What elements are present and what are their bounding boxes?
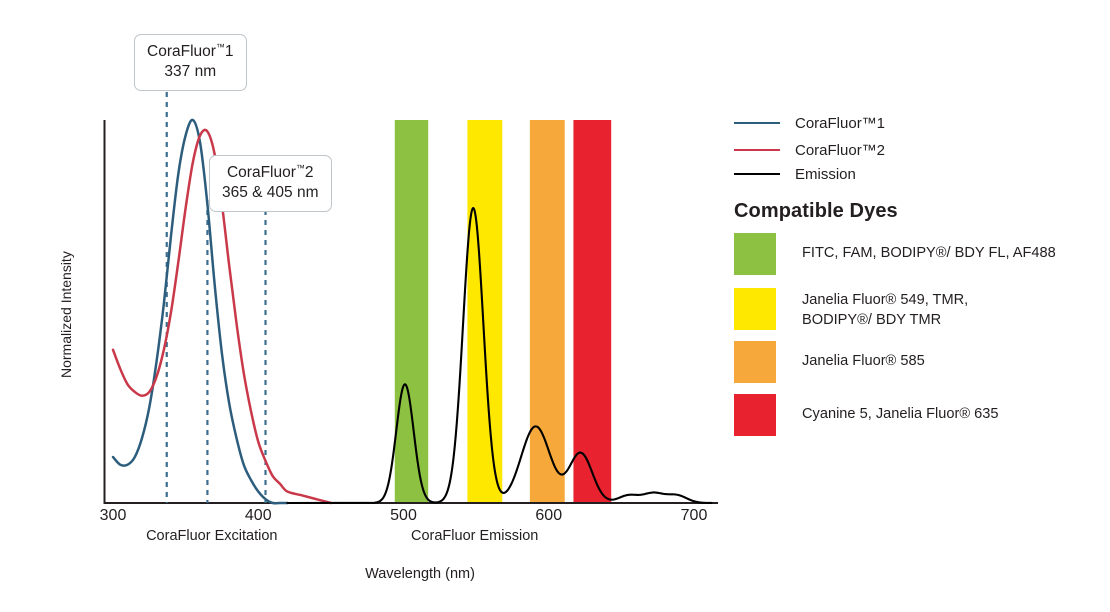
dye-legend-label: Cyanine 5, Janelia Fluor® 635	[802, 394, 999, 424]
dye-legend-label: FITC, FAM, BODIPY®/ BDY FL, AF488	[802, 233, 1056, 263]
legend-line-row-3: Emission	[734, 164, 856, 184]
legend-line-label: Emission	[795, 166, 856, 183]
x-axis-title: Wavelength (nm)	[365, 566, 475, 582]
line-swatch-icon	[734, 173, 780, 175]
line-swatch-icon	[734, 149, 780, 151]
legend-line-label: CoraFluor™2	[795, 142, 885, 159]
callout-cf1-value: 337 nm	[147, 62, 234, 82]
legend-line-label: CoraFluor™1	[795, 115, 885, 132]
spectra-figure: CoraFluor™1 337 nm CoraFluor™2 365 & 405…	[0, 0, 1110, 612]
dye-color-swatch	[734, 233, 776, 275]
dye-legend-row-2: Janelia Fluor® 549, TMR, BODIPY®/ BDY TM…	[734, 288, 968, 330]
line-swatch-icon	[734, 122, 780, 124]
legend-line-row-2: CoraFluor™2	[734, 140, 885, 160]
legend-panel: CoraFluor™1CoraFluor™2Emission Compatibl…	[730, 0, 1110, 612]
legend-line-row-1: CoraFluor™1	[734, 113, 885, 133]
dye-bands-group	[395, 120, 611, 503]
band-group-label-2: CoraFluor Emission	[411, 528, 538, 544]
dye-legend-row-3: Janelia Fluor® 585	[734, 341, 925, 383]
callout-corafluor-2: CoraFluor™2 365 & 405 nm	[209, 155, 332, 212]
x-tick-500: 500	[390, 507, 417, 525]
dye-color-swatch	[734, 341, 776, 383]
trademark-symbol: ™	[216, 42, 225, 52]
y-axis-title: Normalized Intensity	[58, 230, 82, 400]
callout-cf2-title: CoraFluor™2	[227, 164, 314, 181]
callout-corafluor-1: CoraFluor™1 337 nm	[134, 34, 247, 91]
chart-plot-area: CoraFluor™1 337 nm CoraFluor™2 365 & 405…	[0, 0, 730, 612]
dye-legend-row-4: Cyanine 5, Janelia Fluor® 635	[734, 394, 999, 436]
band-group-label-1: CoraFluor Excitation	[146, 528, 277, 544]
red-band	[573, 120, 611, 503]
dye-legend-label: Janelia Fluor® 585	[802, 341, 925, 371]
trademark-symbol: ™	[296, 163, 305, 173]
dye-legend-label: Janelia Fluor® 549, TMR, BODIPY®/ BDY TM…	[802, 288, 968, 330]
yellow-band	[467, 120, 502, 503]
callout-cf1-title: CoraFluor™1	[147, 43, 234, 60]
compatible-dyes-heading: Compatible Dyes	[734, 200, 898, 223]
green-band	[395, 120, 428, 503]
x-tick-600: 600	[535, 507, 562, 525]
x-tick-400: 400	[245, 507, 272, 525]
dye-color-swatch	[734, 394, 776, 436]
x-tick-300: 300	[100, 507, 127, 525]
callout-cf2-value: 365 & 405 nm	[222, 183, 319, 203]
dye-color-swatch	[734, 288, 776, 330]
dye-legend-row-1: FITC, FAM, BODIPY®/ BDY FL, AF488	[734, 233, 1056, 275]
x-tick-700: 700	[681, 507, 708, 525]
